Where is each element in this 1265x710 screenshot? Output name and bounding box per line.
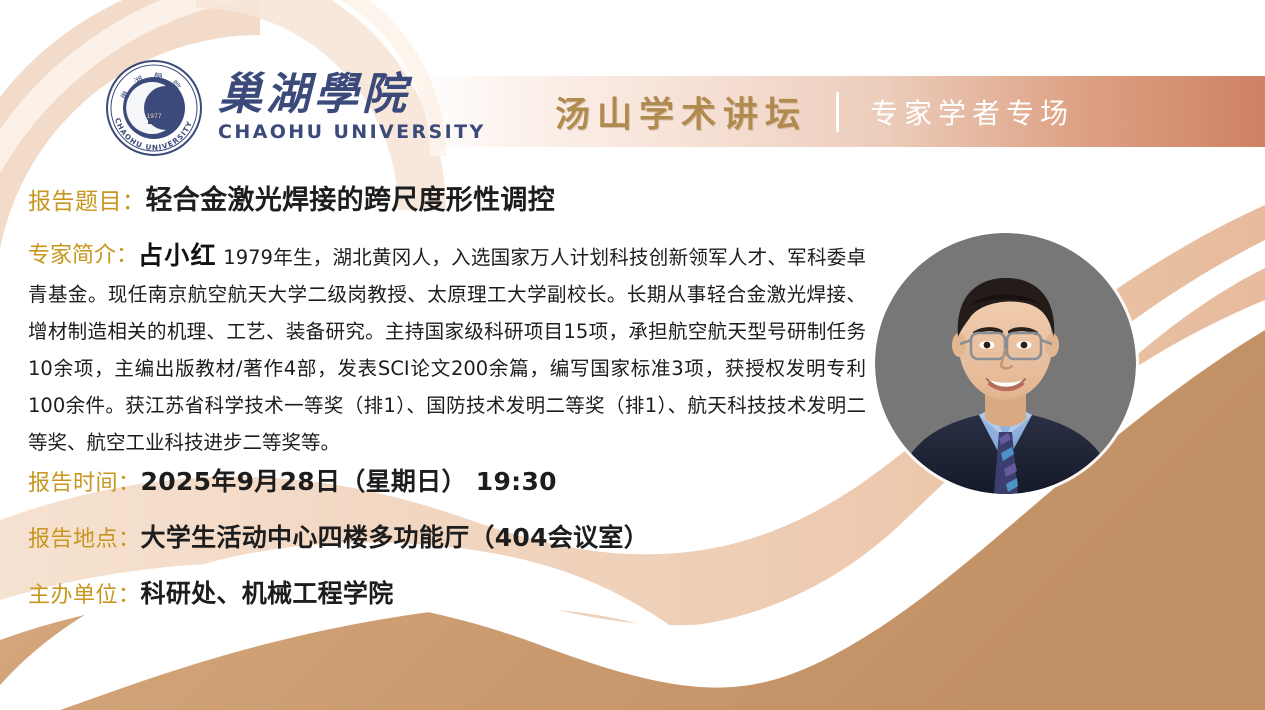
speaker-name: 占小红 — [138, 241, 217, 270]
report-time-label: 报告时间： — [28, 465, 141, 497]
report-title-row: 报告题目： 轻合金激光焊接的跨尺度形性调控 — [28, 178, 555, 217]
report-organizer-row: 主办单位： 科研处、机械工程学院 — [28, 574, 394, 610]
report-location-label: 报告地点： — [28, 521, 141, 553]
speaker-bio-body: 1979年生，湖北黄冈人，入选国家万人计划科技创新领军人才、军科委卓青基金。现任… — [28, 246, 866, 454]
report-title-label: 报告题目： — [28, 182, 146, 216]
speaker-bio-block: 专家简介： 占小红 1979年生，湖北黄冈人，入选国家万人计划科技创新领军人才、… — [28, 237, 866, 461]
report-location-row: 报告地点： 大学生活动中心四楼多功能厅（404会议室） — [28, 518, 649, 554]
report-title-value: 轻合金激光焊接的跨尺度形性调控 — [146, 178, 556, 217]
report-organizer-value: 科研处、机械工程学院 — [141, 574, 394, 610]
report-time-row: 报告时间： 2025年9月28日（星期日） 19:30 — [28, 462, 557, 498]
speaker-portrait-image — [875, 233, 1136, 494]
poster-content: 报告题目： 轻合金激光焊接的跨尺度形性调控 专家简介： 占小红 1979年生，湖… — [0, 0, 1265, 710]
lecture-poster: 汤山学术讲坛 专家学者专场 1977 巢 湖 學 院 CHAOHU UNIVER… — [0, 0, 1265, 710]
report-location-value: 大学生活动中心四楼多功能厅（404会议室） — [141, 518, 650, 554]
speaker-bio-text: 占小红 1979年生，湖北黄冈人，入选国家万人计划科技创新领军人才、军科委卓青基… — [28, 237, 866, 461]
speaker-portrait — [875, 233, 1136, 494]
report-time-value: 2025年9月28日（星期日） 19:30 — [141, 462, 557, 498]
report-organizer-label: 主办单位： — [28, 577, 141, 609]
speaker-bio-label: 专家简介： — [28, 237, 138, 274]
